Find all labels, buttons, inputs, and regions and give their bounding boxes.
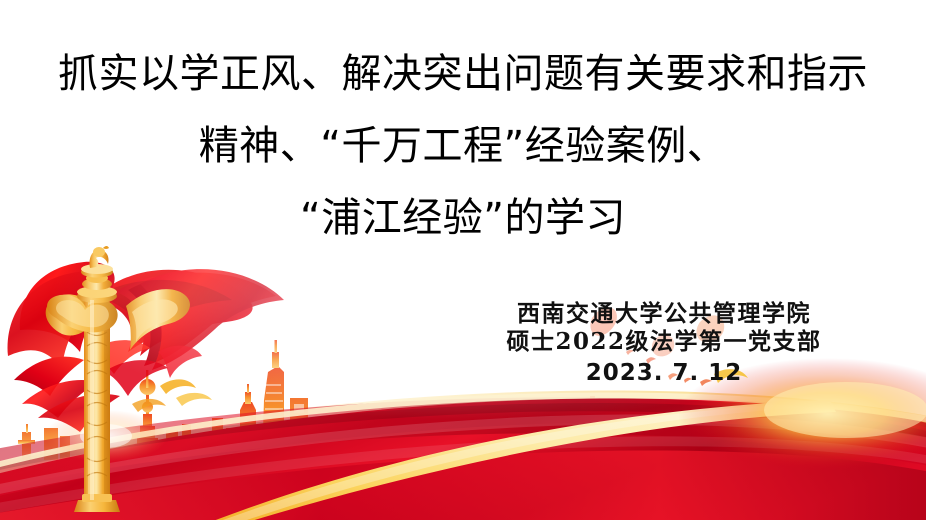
title-line-1: 抓实以学正风、解决突出问题有关要求和指示 — [0, 38, 926, 110]
gold-ribbon-icon — [190, 400, 836, 520]
title-line-2: 精神、“千万工程”经验案例、 — [0, 110, 926, 182]
party-branch-name: 硕士2022级法学第一党支部 — [464, 328, 864, 356]
slide-subtitle: 西南交通大学公共管理学院 硕士2022级法学第一党支部 2023. 7. 12 — [464, 300, 864, 388]
slide-title: 抓实以学正风、解决突出问题有关要求和指示 精神、“千万工程”经验案例、 “浦江经… — [0, 38, 926, 254]
cream-arc-line — [0, 392, 926, 472]
organization-name: 西南交通大学公共管理学院 — [464, 300, 864, 328]
huabiao-column-icon — [46, 246, 190, 512]
presentation-slide: 抓实以学正风、解决突出问题有关要求和指示 精神、“千万工程”经验案例、 “浦江经… — [0, 0, 926, 520]
light-flare-icon — [44, 410, 168, 462]
red-silk-wave-icon — [0, 397, 926, 520]
title-line-3: “浦江经验”的学习 — [0, 182, 926, 254]
red-flag-icon — [8, 262, 284, 432]
cream-band — [0, 390, 926, 520]
presentation-date: 2023. 7. 12 — [464, 358, 864, 388]
